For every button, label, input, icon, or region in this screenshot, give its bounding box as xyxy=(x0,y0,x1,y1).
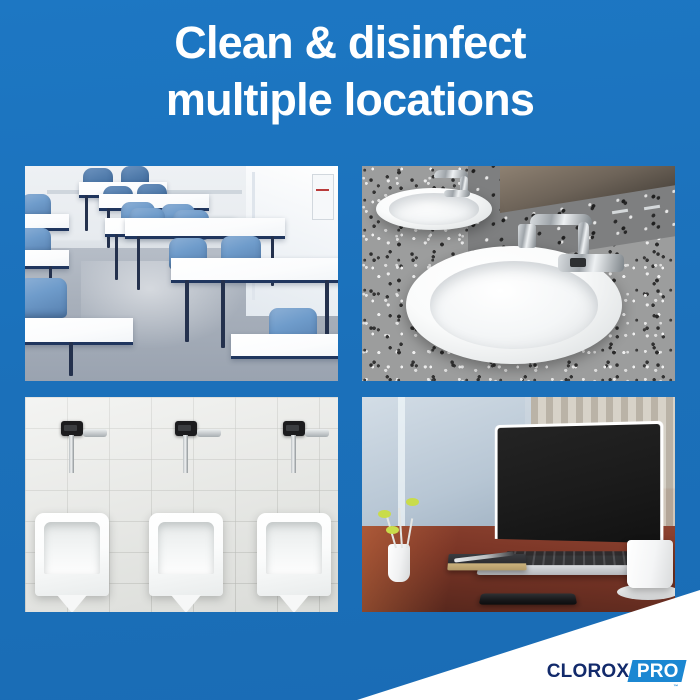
flush-valve-arm xyxy=(197,429,221,437)
classroom-desk xyxy=(125,218,285,239)
logo-sub-brand-text: PRO xyxy=(637,662,679,681)
classroom-desk-leg xyxy=(325,280,329,336)
flush-valve xyxy=(175,421,197,436)
classroom-desk-leg xyxy=(221,280,225,348)
faucet-neck-near xyxy=(578,222,589,258)
classroom-desk xyxy=(25,250,69,269)
smartphone xyxy=(479,594,577,605)
flush-pipe xyxy=(183,435,188,473)
classroom-scene xyxy=(25,166,338,381)
flower-bloom xyxy=(406,498,419,506)
photo-grid xyxy=(25,166,675,612)
urinal-fixture xyxy=(35,513,109,596)
classroom-desk-leg xyxy=(185,280,189,342)
flower-bloom xyxy=(378,510,391,518)
headline-line-1: Clean & disinfect xyxy=(0,14,700,71)
faucet-base-near xyxy=(558,254,624,272)
coffee-mug xyxy=(627,540,673,588)
flush-valve-arm xyxy=(305,429,329,437)
flush-pipe xyxy=(69,435,74,473)
classroom-desk-leg xyxy=(137,236,140,290)
classroom-desk xyxy=(171,258,338,283)
photo-office-desk xyxy=(362,397,675,612)
classroom-wall-chart xyxy=(312,174,334,220)
restroom-scene xyxy=(362,166,675,381)
urinal-fixture xyxy=(149,513,223,596)
classroom-desk xyxy=(25,318,133,345)
headline-line-2: multiple locations xyxy=(0,71,700,128)
urinals-scene xyxy=(25,397,338,612)
photo-urinals xyxy=(25,397,338,612)
flower-vase xyxy=(388,544,410,582)
classroom-desk-leg xyxy=(69,342,73,376)
classroom-desk-leg xyxy=(115,234,118,280)
laptop-display xyxy=(498,424,661,543)
laptop-screen xyxy=(495,421,664,544)
flush-valve xyxy=(61,421,83,436)
flush-valve-arm xyxy=(83,429,107,437)
flush-pipe xyxy=(291,435,296,473)
classroom-desk xyxy=(231,334,338,359)
classroom-desk-leg xyxy=(85,195,88,231)
photo-restroom-sink xyxy=(362,166,675,381)
flower-bloom xyxy=(386,526,399,534)
faucet-handle-near xyxy=(518,224,536,248)
classroom-chair xyxy=(25,278,67,318)
photo-classroom xyxy=(25,166,338,381)
urinal-fixture xyxy=(257,513,331,596)
logo-brand-text: CLOROX xyxy=(547,660,630,682)
faucet-sensor xyxy=(570,258,586,267)
sink-basin-far xyxy=(376,188,492,230)
marketing-poster: Clean & disinfect multiple locations xyxy=(0,0,700,700)
office-scene xyxy=(362,397,675,612)
flush-valve xyxy=(283,421,305,436)
logo-sub-brand-badge: PRO ™ xyxy=(628,660,687,682)
faucet-base-far xyxy=(444,190,470,197)
page-title: Clean & disinfect multiple locations xyxy=(0,14,700,128)
cloroxpro-logo: CLOROX PRO ™ xyxy=(547,660,684,682)
